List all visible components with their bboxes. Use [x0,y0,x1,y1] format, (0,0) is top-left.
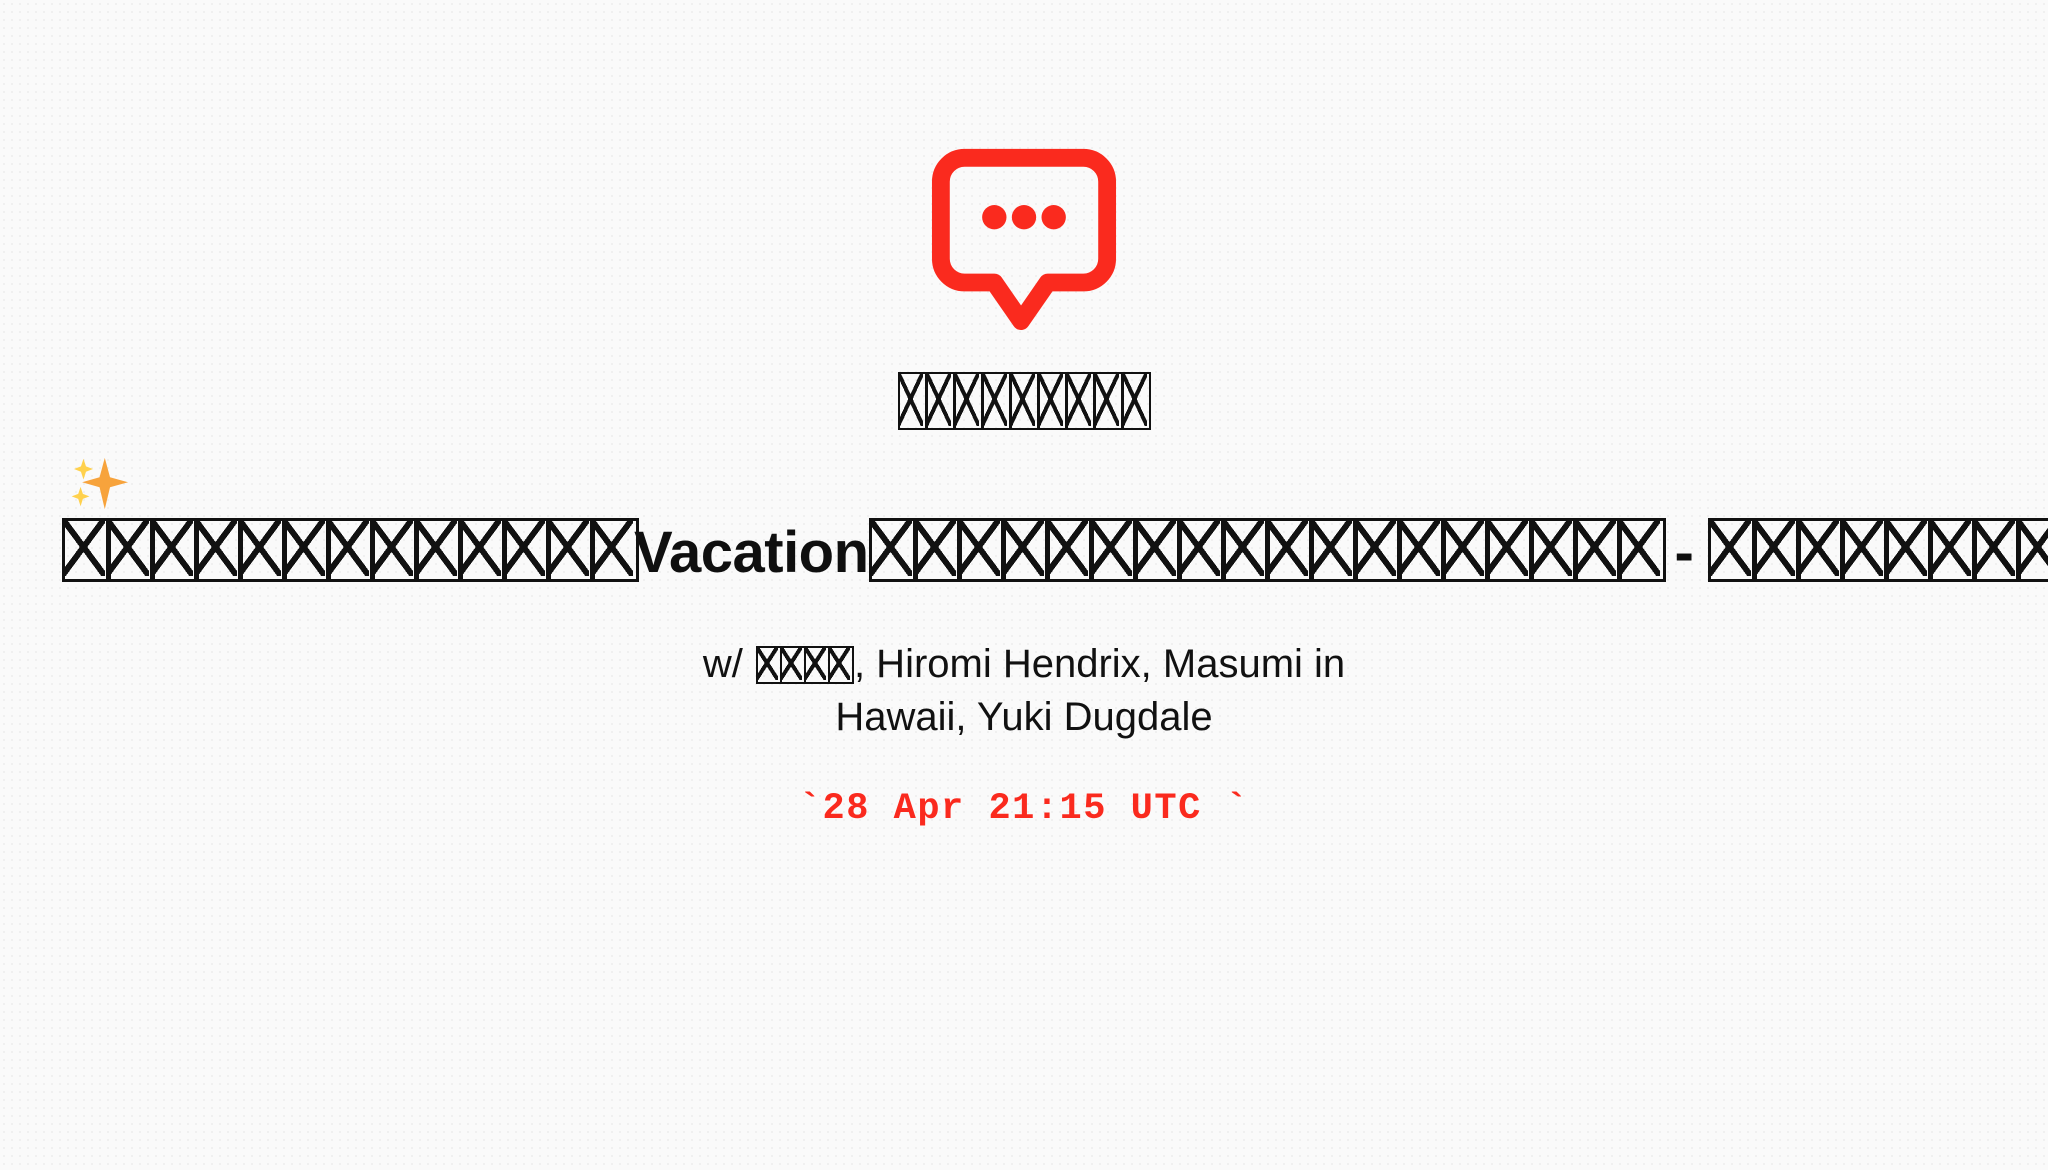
hosts-prefix: w/ [703,642,754,686]
tofu-glyph [1094,372,1119,426]
tofu-glyph [326,518,369,576]
tofu-glyph [590,518,633,576]
tofu-glyph [1972,518,2015,576]
tofu-run-subheading [898,372,1150,426]
tofu-glyph [502,518,545,576]
tofu-glyph [1796,518,1839,576]
tofu-glyph [1529,518,1572,576]
tofu-glyph [1441,518,1484,576]
tofu-glyph [546,518,589,576]
hosts-suffix: , Hiromi Hendrix, Masumi in [854,642,1345,686]
tofu-glyph [1045,518,1088,576]
tofu-glyph [1708,518,1751,576]
tofu-glyph [1353,518,1396,576]
tofu-glyph [1752,518,1795,576]
tofu-run-headline-3 [1708,514,2048,572]
tofu-run-host-name [756,643,852,677]
tofu-glyph [1066,372,1091,426]
tofu-glyph [458,518,501,576]
tofu-glyph [1617,518,1660,576]
tofu-glyph [1038,372,1063,426]
tofu-glyph [370,518,413,576]
headline-sparkle-line [62,452,1986,514]
tofu-glyph [1840,518,1883,576]
tofu-glyph [1928,518,1971,576]
tofu-glyph [238,518,281,576]
timestamp: `28 Apr 21:15 UTC ` [799,788,1249,830]
tofu-glyph [926,372,951,426]
tofu-glyph [1010,372,1035,426]
speech-bubble-dots-icon [929,140,1119,330]
tofu-glyph [780,646,802,680]
tofu-glyph [756,646,778,680]
headline-latin-word: Vacation [634,519,869,586]
tofu-glyph [194,518,237,576]
tofu-glyph [898,372,923,426]
hosts-line-2: Hawaii, Yuki Dugdale [835,695,1212,739]
tofu-glyph [106,518,149,576]
tofu-glyph [1397,518,1440,576]
tofu-glyph [414,518,457,576]
headline-text-line: Vacation - [62,514,1986,586]
tofu-glyph [828,646,850,680]
tofu-glyph [869,518,912,576]
tofu-glyph [1133,518,1176,576]
tofu-run-headline-2 [869,514,1661,572]
tofu-glyph [1884,518,1927,576]
tofu-glyph [1089,518,1132,576]
tofu-glyph [1001,518,1044,576]
tofu-glyph [957,518,1000,576]
tofu-glyph [1177,518,1220,576]
event-announcement-card: Vacation - w/ , Hiromi Hendrix, Masumi i… [0,0,2048,1170]
headline-block: Vacation - [0,452,2048,586]
headline-dash: - [1661,519,1708,586]
tofu-glyph [2016,518,2048,576]
tofu-glyph [982,372,1007,426]
tofu-run-headline-1 [62,514,634,572]
hosts-line: w/ , Hiromi Hendrix, Masumi in Hawaii, Y… [644,638,1404,744]
tofu-glyph [1265,518,1308,576]
sub-heading-glyphs [898,368,1150,430]
tofu-glyph [1309,518,1352,576]
tofu-glyph [804,646,826,680]
tofu-glyph [282,518,325,576]
tofu-glyph [150,518,193,576]
tofu-glyph [1485,518,1528,576]
tofu-glyph [1573,518,1616,576]
tofu-glyph [1221,518,1264,576]
speech-bubble-icon-container [924,140,1124,330]
sparkles-icon [62,452,134,514]
tofu-glyph [954,372,979,426]
tofu-glyph [1122,372,1147,426]
tofu-glyph [913,518,956,576]
tofu-glyph [62,518,105,576]
